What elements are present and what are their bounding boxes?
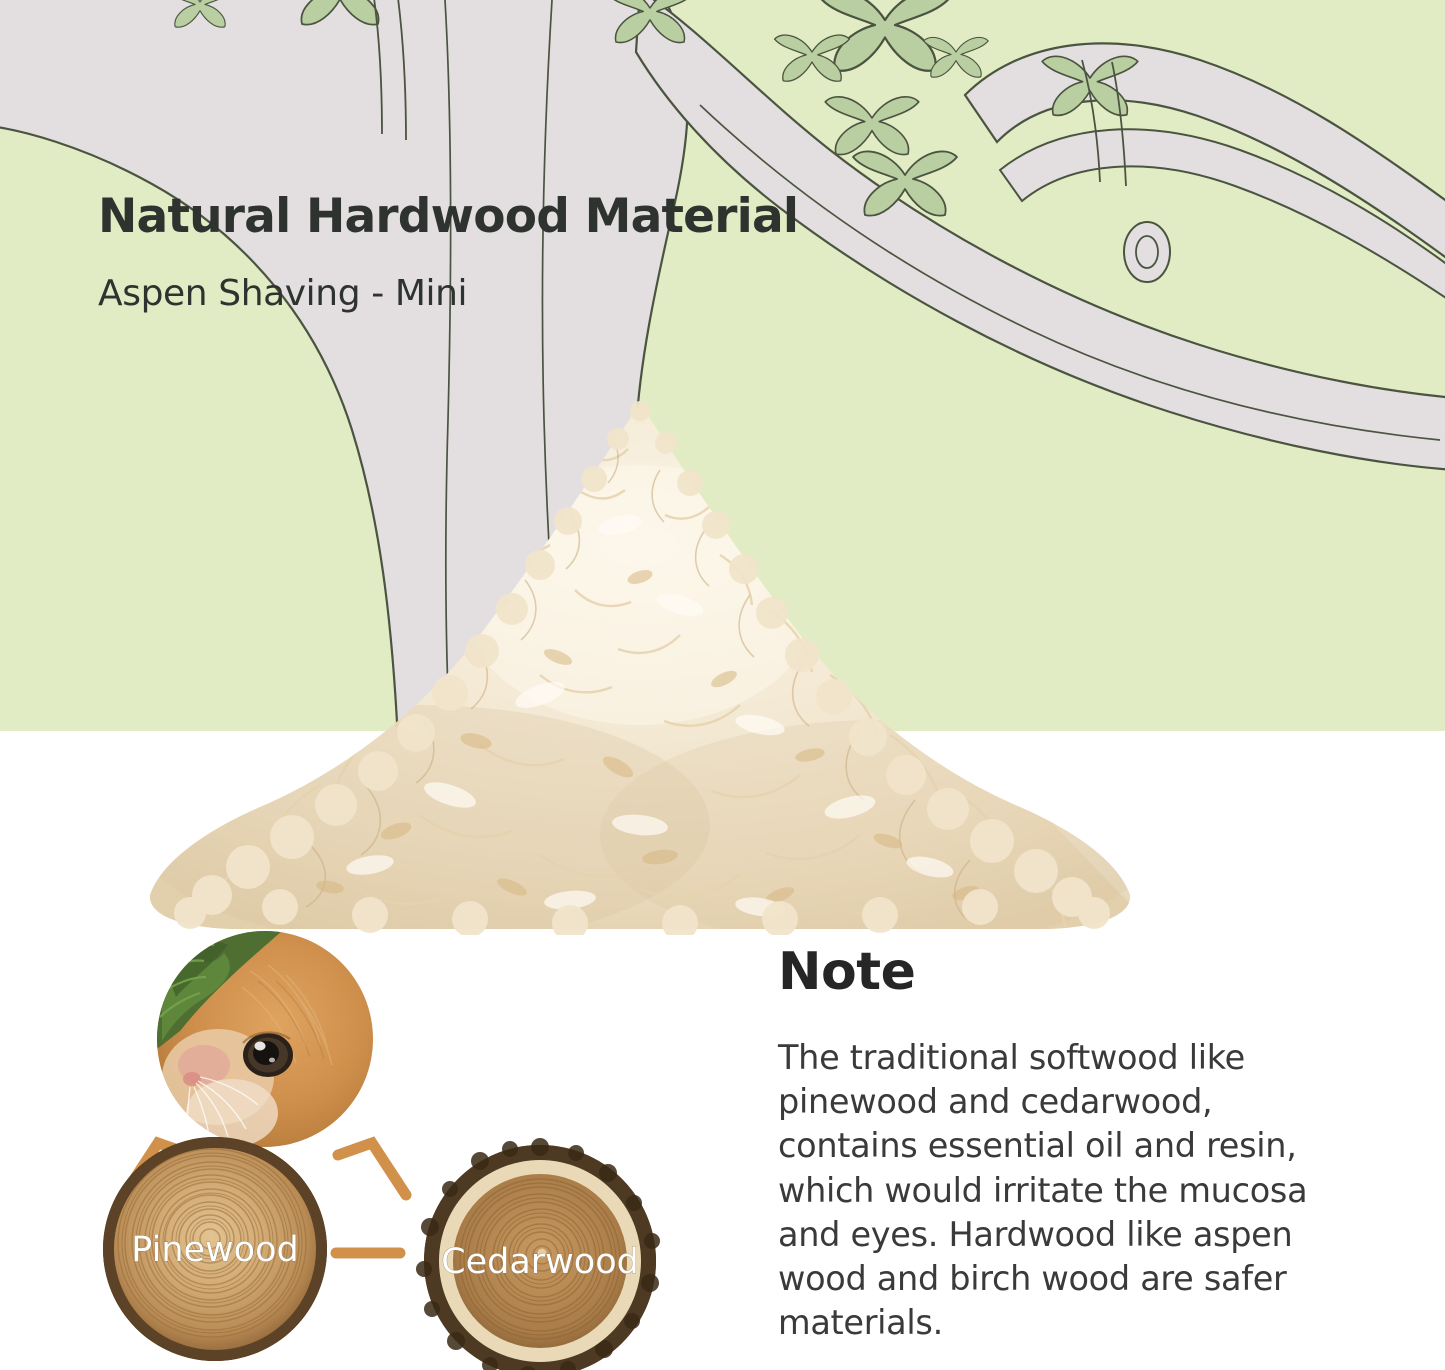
wood-sample-cedarwood: Cedarwood	[416, 1138, 660, 1370]
hero-title-block: Natural Hardwood Material Aspen Shaving …	[98, 193, 798, 312]
wood-comparison-diagram: Pinewood	[100, 931, 660, 1370]
page-title: Natural Hardwood Material	[98, 193, 798, 240]
hamster-photo	[157, 931, 373, 1147]
note-body: The traditional softwood like pinewood a…	[778, 1036, 1308, 1346]
shavings-pile-svg	[120, 395, 1160, 935]
aspen-shavings-pile	[120, 395, 1160, 935]
cedarwood-label: Cedarwood	[441, 1242, 639, 1282]
product-infographic: Natural Hardwood Material Aspen Shaving …	[0, 0, 1445, 1370]
hamster-nose-icon	[183, 1072, 201, 1086]
page-subtitle: Aspen Shaving - Mini	[98, 276, 798, 312]
connector-arrow-right	[338, 1143, 406, 1195]
note-heading: Note	[778, 946, 1308, 998]
wood-sample-pinewood: Pinewood	[103, 1137, 327, 1361]
pinewood-label: Pinewood	[131, 1230, 298, 1270]
note-section: Note The traditional softwood like pinew…	[778, 946, 1308, 1346]
knot-hole-inner-icon	[1136, 236, 1158, 268]
wood-comparison-svg: Pinewood	[100, 931, 660, 1370]
